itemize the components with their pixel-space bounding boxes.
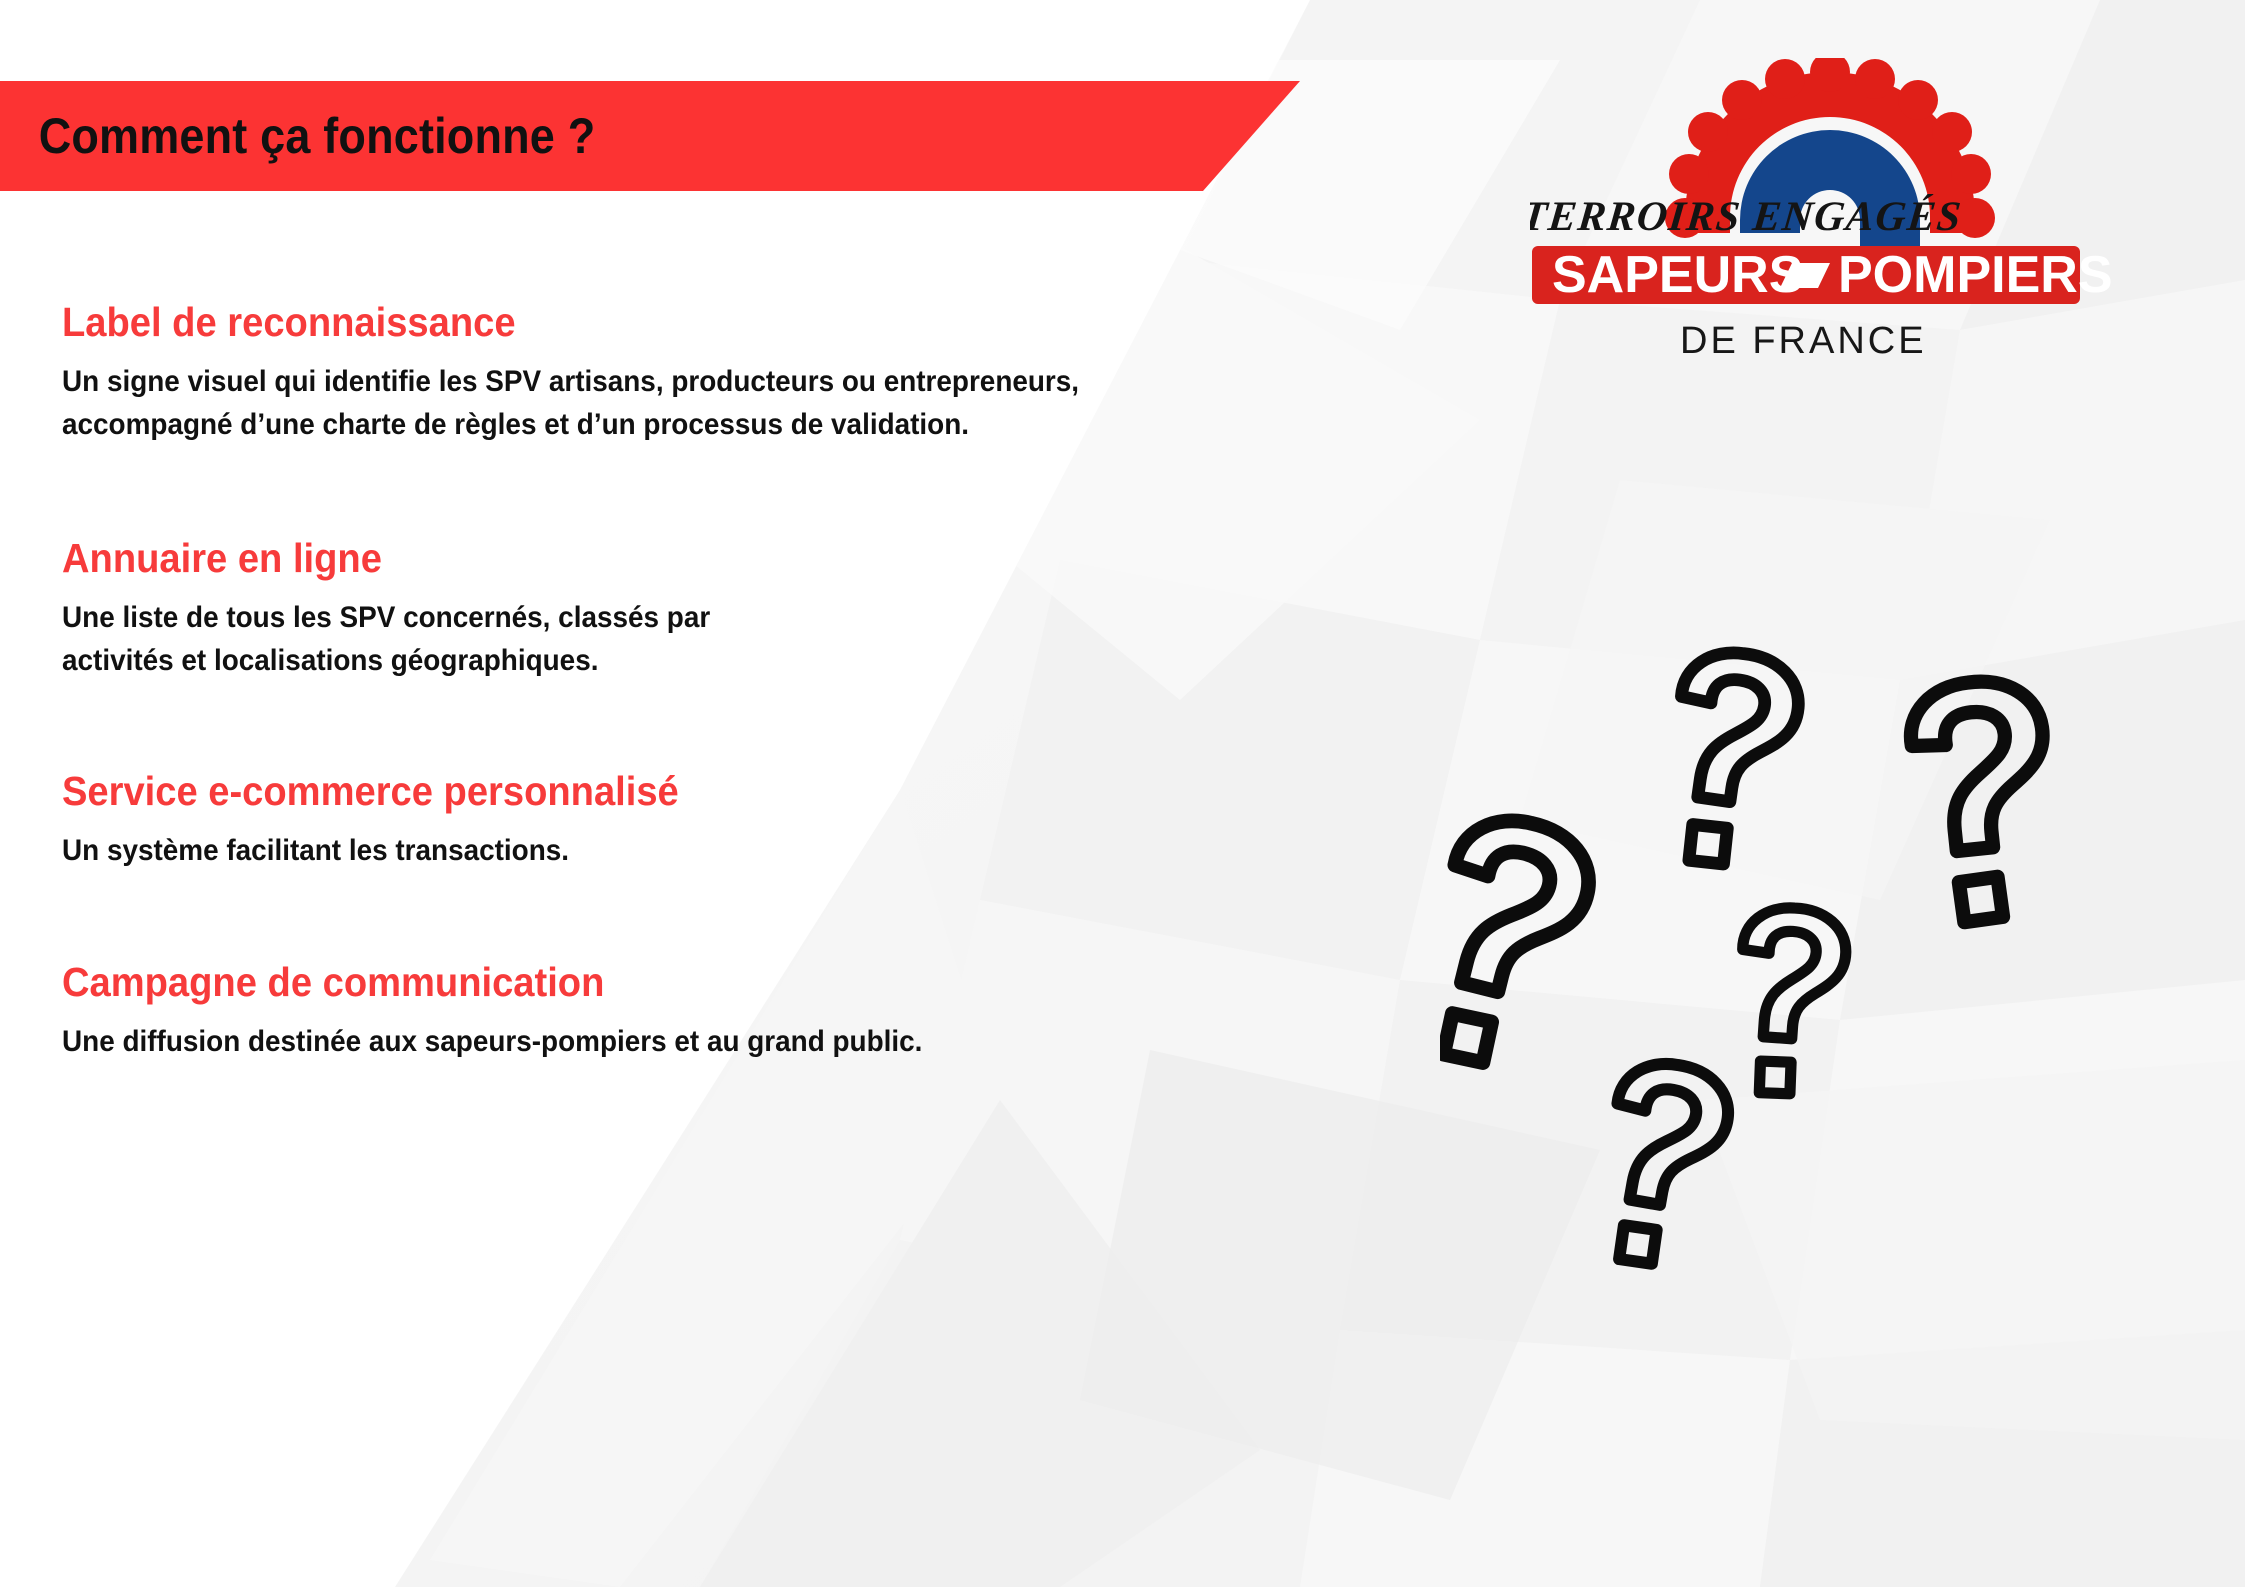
section-service-e-commerce: Service e-commerce personnalisé Un systè… bbox=[62, 769, 1462, 873]
section-title: Label de reconnaissance bbox=[62, 300, 1364, 345]
question-mark-5 bbox=[1591, 1056, 1736, 1270]
section-campagne-de-communication: Campagne de communication Une diffusion … bbox=[62, 960, 1462, 1064]
section-body: Un système facilitant les transactions. bbox=[62, 830, 1364, 873]
logo-main-right: POMPIERS bbox=[1838, 246, 2113, 304]
slide-root: Comment ça fonctionne ? TERROIRS ENGAGÉS… bbox=[0, 0, 2245, 1587]
logo-main-left: SAPEURS bbox=[1552, 246, 1803, 304]
section-body-line: Un système facilitant les transactions. bbox=[62, 830, 1364, 873]
section-body: Une diffusion destinée aux sapeurs-pompi… bbox=[62, 1021, 1364, 1064]
content-sections: Label de reconnaissance Un signe visuel … bbox=[62, 300, 1462, 1064]
section-label-de-reconnaissance: Label de reconnaissance Un signe visuel … bbox=[62, 300, 1462, 446]
question-mark-2 bbox=[1906, 675, 2062, 925]
question-mark-4 bbox=[1733, 905, 1849, 1098]
section-title: Campagne de communication bbox=[62, 960, 1364, 1005]
logo-tagline: TERROIRS ENGAGÉS bbox=[1530, 193, 1964, 240]
section-body: Une liste de tous les SPV concernés, cla… bbox=[62, 597, 1364, 682]
section-annuaire-en-ligne: Annuaire en ligne Une liste de tous les … bbox=[62, 536, 1462, 682]
section-body-line: Un signe visuel qui identifie les SPV ar… bbox=[62, 361, 1364, 404]
logo-sapeurs-pompiers-de-france: TERROIRS ENGAGÉS SAPEURS POMPIERS DE FRA… bbox=[1530, 58, 2130, 368]
page-title: Comment ça fonctionne ? bbox=[0, 107, 595, 165]
section-body: Un signe visuel qui identifie les SPV ar… bbox=[62, 361, 1364, 446]
section-title: Annuaire en ligne bbox=[62, 536, 1364, 581]
question-mark-3 bbox=[1440, 808, 1601, 1079]
logo-sub: DE FRANCE bbox=[1680, 320, 1927, 362]
section-title: Service e-commerce personnalisé bbox=[62, 769, 1364, 814]
section-body-line: Une liste de tous les SPV concernés, cla… bbox=[62, 597, 1364, 640]
section-body-line: activités et localisations géographiques… bbox=[62, 640, 1364, 683]
question-mark-1 bbox=[1659, 646, 1805, 873]
section-body-line: Une diffusion destinée aux sapeurs-pompi… bbox=[62, 1021, 1364, 1064]
section-body-line: accompagné d’une charte de règles et d’u… bbox=[62, 404, 1364, 447]
question-marks-illustration bbox=[1440, 600, 2100, 1270]
title-banner: Comment ça fonctionne ? bbox=[0, 81, 1300, 191]
